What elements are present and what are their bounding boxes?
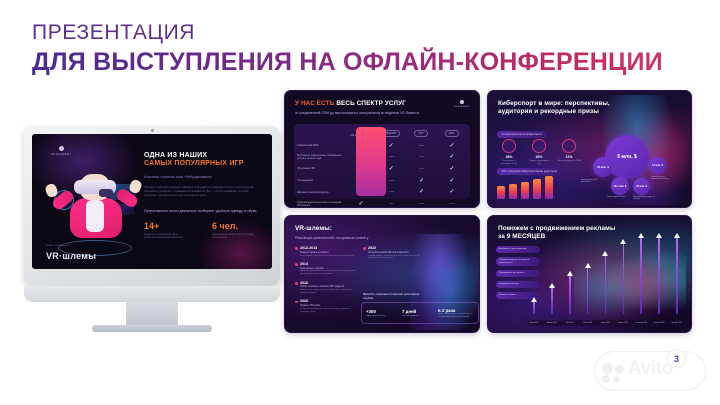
stat-value: 14+ (144, 221, 188, 231)
chart-step (528, 302, 540, 314)
bar (497, 186, 505, 199)
monitor-chin (24, 286, 280, 302)
bubble-caption: Сумма призов Fortnite (607, 196, 629, 198)
monitor-screen: VR ACADEMY ОДНА ИЗ НАШИХ С (32, 134, 272, 269)
dash-icon: — (437, 201, 467, 207)
card-content: Киберспорт в мире: перспективы, аудитори… (488, 91, 691, 207)
page-title-line1: ПРЕЗЕНТАЦИЯ (32, 20, 692, 46)
check-icon: ✓ (406, 178, 436, 184)
bubble-caption: Самый большой одиночный выигрыш (651, 176, 673, 181)
avito-watermark: Avito 3 (594, 351, 706, 391)
donut-label: Прирост аудитории в год (527, 160, 551, 166)
card-title-text: VR-шлемы: (295, 225, 332, 232)
card-logo: VR ACADEMY (454, 100, 470, 108)
axis-label: Ноябрь 2024 (671, 322, 683, 324)
desktop-monitor-mockup: VR ACADEMY ОДНА ИЗ НАШИХ С (24, 126, 280, 336)
vr-character-illustration (54, 174, 136, 252)
stat-item: в 2 раза выше выручка клуба по сравнению… (438, 308, 474, 319)
axis-label: Август 2024 (617, 322, 629, 324)
step-bar (623, 244, 625, 314)
bubble-main: 5 млн. $ (605, 135, 649, 179)
card-title: Киберспорт в мире: перспективы, аудитори… (498, 100, 681, 117)
bubble: 64 млн. $ (593, 157, 613, 177)
comparison-table: VR ACADEMY VRCLUB VCT CPC Современная CR… (294, 124, 470, 199)
slide-footer-caption: самое интересное (46, 244, 70, 247)
timeline-year: 2012-2013 (300, 246, 357, 250)
check-icon: ✓ (437, 143, 467, 149)
monitor-body: VR ACADEMY ОДНА ИЗ НАШИХ С (24, 126, 280, 286)
axis-label: Июнь 2024 (581, 322, 593, 324)
avito-dot-icon (602, 375, 610, 383)
marker-icon (585, 263, 591, 268)
step-bar (533, 302, 535, 314)
page-title: ПРЕЗЕНТАЦИЯ ДЛЯ ВЫСТУПЛЕНИЯ НА ОФЛАЙН-КО… (32, 20, 692, 77)
timeline-item: 2020 Первые VR-клубы VR-центры развивают… (295, 299, 357, 313)
stats-strip: +300 подключённых VR-игр 7 дней срок оку… (361, 302, 479, 324)
bar (533, 179, 541, 199)
bubble: 25 млн. $ (633, 178, 650, 195)
col-label: CPC (445, 130, 459, 137)
logo-name: VR ACADEMY (454, 106, 470, 108)
stat-value: 7 дней (402, 309, 438, 314)
chart-step (617, 244, 629, 314)
slide-cta: Приготовьтесь много двигаться, выберите … (144, 209, 262, 214)
dash-icon: — (376, 201, 406, 207)
donut-chart-icon (562, 139, 576, 153)
row-label: Персональный консультант по ведению VR-б… (297, 201, 346, 207)
axis-label: Май 2024 (564, 322, 576, 324)
bar-chart (497, 175, 553, 199)
monitor-stand-neck (126, 302, 178, 326)
table-col-header: VCT (406, 130, 437, 137)
bubble-caption: Призовой фонд League of Legends (633, 196, 655, 201)
card-title: VR-шлемы: (295, 225, 469, 233)
marker-icon (531, 297, 537, 302)
axis-label: Октябрь 2024 (653, 322, 665, 324)
chart-step (635, 238, 647, 314)
donut-stat-item: 28% Рост рынка за последние 5 лет (497, 139, 521, 166)
step-bar (605, 256, 607, 314)
page-number-badge: 3 (667, 349, 686, 368)
dash-icon: — (406, 166, 436, 172)
slide-card-services[interactable]: У НАС ЕСТЬ ВЕСЬ СПЕКТР УСЛУГ от современ… (284, 90, 480, 208)
card-title-line1: Поможем с продвижением рекламы (498, 225, 681, 233)
timeline-year: 2020 (300, 299, 357, 303)
timeline-dot-icon (295, 301, 298, 304)
avito-dot-icon (615, 365, 624, 374)
pill-label-top: Статистика роста киберспорта (497, 131, 547, 138)
bubble: 14 млн. $ (649, 157, 666, 174)
highlighted-column (356, 127, 386, 196)
card-subtitle: Революция развлечений, покорившая планет… (295, 236, 469, 241)
slide-card-vr-helmets[interactable]: VR-шлемы: Революция развлечений, покорив… (284, 215, 480, 333)
table-col-header: CPC (436, 130, 467, 137)
slide-subtitle: Ключевая стратегия игры «Нейродинамика» (144, 175, 262, 180)
logo-name: VR ACADEMY (48, 153, 74, 156)
step-bar (658, 238, 660, 314)
donut-stat-item: 12% Прогноз прироста к 2030 (557, 139, 581, 166)
slide-paragraph: VR-игра, в которой команда геймеров погр… (144, 185, 262, 198)
timeline-left: 2012-2013 Выпуск первых устройств Когда … (295, 246, 357, 318)
dash-icon: — (406, 201, 436, 207)
axis-label: Апрель 2024 (546, 322, 558, 324)
timeline-dot-icon (295, 263, 298, 266)
step-bar (640, 238, 642, 314)
chart-step (599, 256, 611, 314)
timeline-dot-icon (295, 247, 298, 250)
chart-step (581, 268, 593, 314)
stat-caption: выше выручка клуба по сравнению со станд… (438, 313, 474, 318)
bubble-chart: 5 млн. $ 64 млн. $ 14 млн. $ 46,7 млн. $… (595, 131, 673, 201)
col-label: VCT (414, 130, 427, 137)
slide-card-promotion[interactable]: Поможем с продвижением рекламы за 9 МЕСЯ… (487, 215, 692, 333)
card-cta: Meta Pro закупается именно для наших клу… (363, 292, 425, 300)
marker-icon (674, 233, 680, 238)
stat-item: 14+ возрастное ограничение. Дети — тольк… (144, 221, 188, 240)
timeline-year: 2022 (368, 246, 425, 250)
card-title-line2: аудитория и рекордные призы (498, 108, 681, 116)
card-subtitle: от современной CRM до персонального конс… (295, 111, 469, 116)
check-icon: ✓ (437, 178, 467, 184)
stat-item: 6 чел. максимальное количество участнико… (212, 221, 256, 240)
timeline-head: Первые VR-клубы (300, 304, 357, 307)
stat-value: +300 (366, 309, 402, 314)
slide-card-esports[interactable]: Киберспорт в мире: перспективы, аудитори… (487, 90, 692, 208)
chart-step (671, 238, 683, 314)
step-bar (676, 238, 678, 314)
timeline-item: 2022 Потребительский VR-шлем Meta Pro Лу… (363, 246, 425, 260)
card-title-highlight: У НАС ЕСТЬ (295, 100, 334, 107)
bubble: 46,7 млн. $ (611, 177, 629, 195)
check-icon: ✓ (406, 189, 436, 195)
timeline-year: 2014 (300, 262, 357, 266)
slide-footer-title: VR·шлемы (46, 251, 96, 261)
slide-stats: 14+ возрастное ограничение. Дети — тольк… (144, 221, 262, 240)
timeline-desc: Лучший продукт поколения для того, чтобы… (368, 255, 425, 261)
growth-chart (528, 238, 683, 314)
step-bar (551, 288, 553, 314)
marker-icon (567, 271, 573, 276)
marker-icon (620, 239, 626, 244)
check-icon: ✓ (437, 189, 467, 195)
card-content: У НАС ЕСТЬ ВЕСЬ СПЕКТР УСЛУГ от современ… (285, 91, 479, 207)
row-label: Бесплатное подключение и обновление услу… (297, 154, 346, 160)
donut-stat-item: 20% Прирост аудитории в год (527, 139, 551, 166)
slide-text-column: ОДНА ИЗ НАШИХ САМЫХ ПОПУЛЯРНЫХ ИГР Ключе… (144, 152, 262, 240)
chart-step (546, 288, 558, 314)
row-label: Современная CRM (297, 144, 346, 147)
bar (509, 184, 517, 199)
stat-caption: подключённых VR-игр (366, 315, 402, 318)
card-title-line1: Киберспорт в мире: перспективы, (498, 100, 681, 108)
donut-percent: 20% (527, 155, 551, 159)
chart-step (653, 238, 665, 314)
row-label: Широкая линейка продуктов (297, 191, 346, 194)
bar (521, 182, 529, 199)
check-icon: ✓ (437, 154, 467, 160)
stat-value: в 2 раза (438, 308, 474, 313)
donut-percent: 28% (497, 155, 521, 159)
stat-caption: срок окупаемости (402, 315, 438, 318)
dash-icon: — (406, 143, 436, 149)
card-title-rest: ВЕСЬ СПЕКТР УСЛУГ (336, 100, 406, 107)
timeline-head: Выпуск первых устройств (300, 251, 357, 254)
dash-icon: — (406, 154, 436, 160)
card-content: Поможем с продвижением рекламы за 9 МЕСЯ… (488, 216, 691, 332)
marker-icon (602, 251, 608, 256)
avito-dot-icon (613, 376, 620, 383)
timeline-head: Потребительский VR-шлем Meta Pro (368, 251, 425, 254)
stat-value: 6 чел. (212, 221, 256, 231)
webcam-icon (151, 129, 154, 132)
logo-mark-icon (460, 100, 464, 104)
donut-percent: 12% (557, 155, 581, 159)
timeline-desc: Когда первые продукты были сложными и не… (300, 255, 357, 258)
avito-brand-text: Avito (628, 358, 673, 380)
axis-label: Март 2024 (528, 322, 540, 324)
slide-title-line1: ОДНА ИЗ НАШИХ (144, 152, 262, 159)
marker-icon (638, 233, 644, 238)
goggles-lens (99, 189, 113, 197)
check-icon: ✓ (437, 166, 467, 172)
axis-label: Сентябрь 2024 (635, 322, 647, 324)
chart-step (564, 276, 576, 314)
chart-axis-labels: Март 2024 Апрель 2024 Май 2024 Июнь 2024… (528, 320, 683, 326)
donut-chart-icon (502, 139, 516, 153)
timeline-head: Расширение линейки (300, 267, 357, 270)
row-label: Техподдержка (297, 179, 346, 182)
donut-chart-icon (532, 139, 546, 153)
marker-icon (656, 233, 662, 238)
stat-item: 7 дней срок окупаемости (402, 309, 438, 317)
slide-title-line2: САМЫХ ПОПУЛЯРНЫХ ИГР (144, 160, 262, 167)
stat-caption: максимальное количество участников одной… (212, 233, 256, 240)
timeline-dot-icon (295, 282, 298, 285)
card-content: VR-шлемы: Революция развлечений, покорив… (285, 216, 479, 332)
timeline-desc: Шлемы стали применяться для обучения и т… (300, 289, 357, 295)
row-label: VR-шлемы в РФ (297, 167, 346, 170)
logo-mark-icon (59, 146, 64, 151)
bar (545, 176, 553, 199)
timeline-item: 2014 Расширение линейки Игровые и развле… (295, 262, 357, 276)
donut-label: Прогноз прироста к 2030 (557, 160, 581, 163)
bubble-caption: Призовой фонд The International (581, 179, 603, 184)
timeline-desc: Игровые и развлекательные возможности ст… (300, 270, 357, 276)
timeline-dot-icon (363, 247, 366, 250)
timeline-item: 2012-2013 Выпуск первых устройств Когда … (295, 246, 357, 257)
timeline-item: 2016 Запуск шлемов с обзором 360 градусо… (295, 281, 357, 295)
pill-label-bottom: Рост мировой киберспортивной аудитории (497, 168, 562, 175)
timeline-head: Запуск шлемов с обзором 360 градусов (300, 285, 357, 288)
card-title: У НАС ЕСТЬ ВЕСЬ СПЕКТР УСЛУГ (295, 100, 469, 108)
axis-label: Июль 2024 (599, 322, 611, 324)
timeline-desc: VR-центры развиваются в России, общее ко… (300, 308, 357, 314)
step-bar (569, 276, 571, 314)
avito-dot-icon (602, 363, 613, 374)
page-title-line2: ДЛЯ ВЫСТУПЛЕНИЯ НА ОФЛАЙН-КОНФЕРЕНЦИИ (32, 47, 692, 77)
monitor-stand-base (92, 325, 212, 332)
stat-item: +300 подключённых VR-игр (366, 309, 402, 317)
timeline-right: 2022 Потребительский VR-шлем Meta Pro Лу… (363, 246, 425, 265)
slide-logo: VR ACADEMY (48, 146, 74, 156)
vr-goggles-icon (74, 180, 116, 194)
check-icon: ✓ (346, 201, 376, 207)
character-vest (86, 200, 104, 232)
stat-caption: возрастное ограничение. Дети — только в … (144, 233, 188, 240)
donut-stats: 28% Рост рынка за последние 5 лет 20% Пр… (497, 139, 581, 166)
donut-label: Рост рынка за последние 5 лет (497, 160, 521, 166)
table-row: Персональный консультант по ведению VR-б… (297, 198, 467, 208)
marker-icon (549, 283, 555, 288)
timeline-year: 2016 (300, 281, 357, 285)
step-bar (587, 268, 589, 314)
